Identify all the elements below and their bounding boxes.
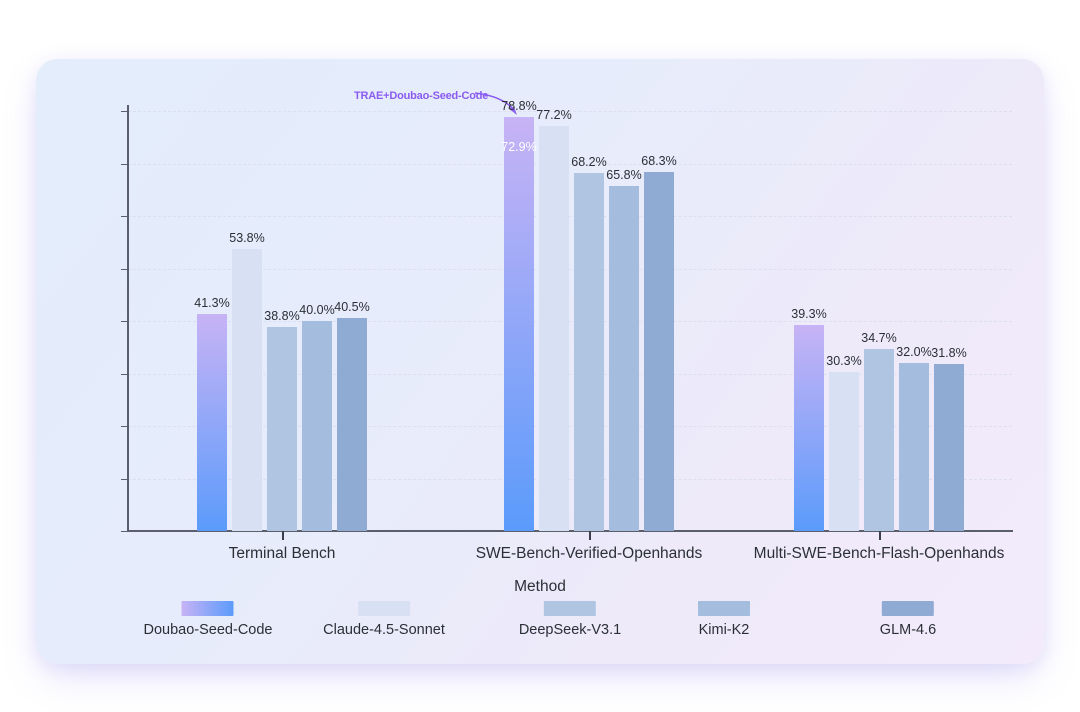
bar[interactable] <box>934 364 964 531</box>
legend-label: GLM-4.6 <box>880 622 936 638</box>
annotation-label: TRAE+Doubao-Seed-Code <box>354 90 488 102</box>
legend-label: Kimi-K2 <box>698 622 750 638</box>
bar-value-label: 31.8% <box>931 346 966 360</box>
bar[interactable] <box>829 372 859 531</box>
bar[interactable] <box>539 126 569 531</box>
bar[interactable] <box>794 325 824 531</box>
bar-value-label: 40.0% <box>299 303 334 317</box>
x-tick-mark <box>589 531 591 540</box>
chart-legend: Doubao-Seed-CodeClaude-4.5-SonnetDeepSee… <box>36 601 1044 656</box>
bar-value-label: 38.8% <box>264 309 299 323</box>
bar[interactable] <box>899 363 929 531</box>
x-category-label: SWE-Bench-Verified-Openhands <box>476 545 703 563</box>
bar-value-label: 53.8% <box>229 231 264 245</box>
legend-item[interactable]: Claude-4.5-Sonnet <box>323 601 445 638</box>
legend-swatch <box>882 601 934 616</box>
bar[interactable] <box>609 186 639 531</box>
legend-swatch <box>358 601 410 616</box>
bar-value-label: 41.3% <box>194 296 229 310</box>
legend-swatch <box>544 601 596 616</box>
legend-item[interactable]: DeepSeek-V3.1 <box>519 601 621 638</box>
legend-label: DeepSeek-V3.1 <box>519 622 621 638</box>
bar-inner-value-label: 72.9% <box>501 140 536 154</box>
legend-swatch <box>698 601 750 616</box>
bar-value-label: 65.8% <box>606 168 641 182</box>
bar-value-label: 40.5% <box>334 300 369 314</box>
bar-value-label: 34.7% <box>861 331 896 345</box>
bar[interactable] <box>232 249 262 531</box>
bar[interactable] <box>197 314 227 531</box>
bar-value-label: 68.3% <box>641 154 676 168</box>
bar[interactable] <box>574 173 604 531</box>
bars-layer <box>36 59 1044 531</box>
bar[interactable] <box>864 349 894 531</box>
bar[interactable] <box>337 318 367 531</box>
legend-swatch <box>182 601 234 616</box>
legend-label: Doubao-Seed-Code <box>144 622 273 638</box>
x-tick-mark <box>879 531 881 540</box>
plot-area: 01020304050607080 Terminal BenchSWE-Benc… <box>36 59 1044 664</box>
bar[interactable] <box>302 321 332 531</box>
legend-label: Claude-4.5-Sonnet <box>323 622 445 638</box>
bar[interactable] <box>504 117 534 531</box>
legend-item[interactable]: Doubao-Seed-Code <box>144 601 273 638</box>
x-axis-title: Method <box>36 578 1044 596</box>
bar-value-label: 68.2% <box>571 155 606 169</box>
bar-value-label: 39.3% <box>791 307 826 321</box>
x-tick-mark <box>282 531 284 540</box>
legend-item[interactable]: Kimi-K2 <box>698 601 750 638</box>
bar[interactable] <box>267 327 297 531</box>
chart-page: 01020304050607080 Terminal BenchSWE-Benc… <box>0 0 1080 712</box>
y-tick-mark <box>121 531 127 532</box>
x-category-label: Terminal Bench <box>229 545 336 563</box>
bar-value-label: 30.3% <box>826 354 861 368</box>
bar[interactable] <box>644 172 674 531</box>
bar-value-label: 77.2% <box>536 108 571 122</box>
x-category-label: Multi-SWE-Bench-Flash-Openhands <box>754 545 1005 563</box>
bar-value-label: 78.8% <box>501 99 536 113</box>
bar-value-label: 32.0% <box>896 345 931 359</box>
legend-item[interactable]: GLM-4.6 <box>880 601 936 638</box>
chart-card: 01020304050607080 Terminal BenchSWE-Benc… <box>36 59 1044 664</box>
